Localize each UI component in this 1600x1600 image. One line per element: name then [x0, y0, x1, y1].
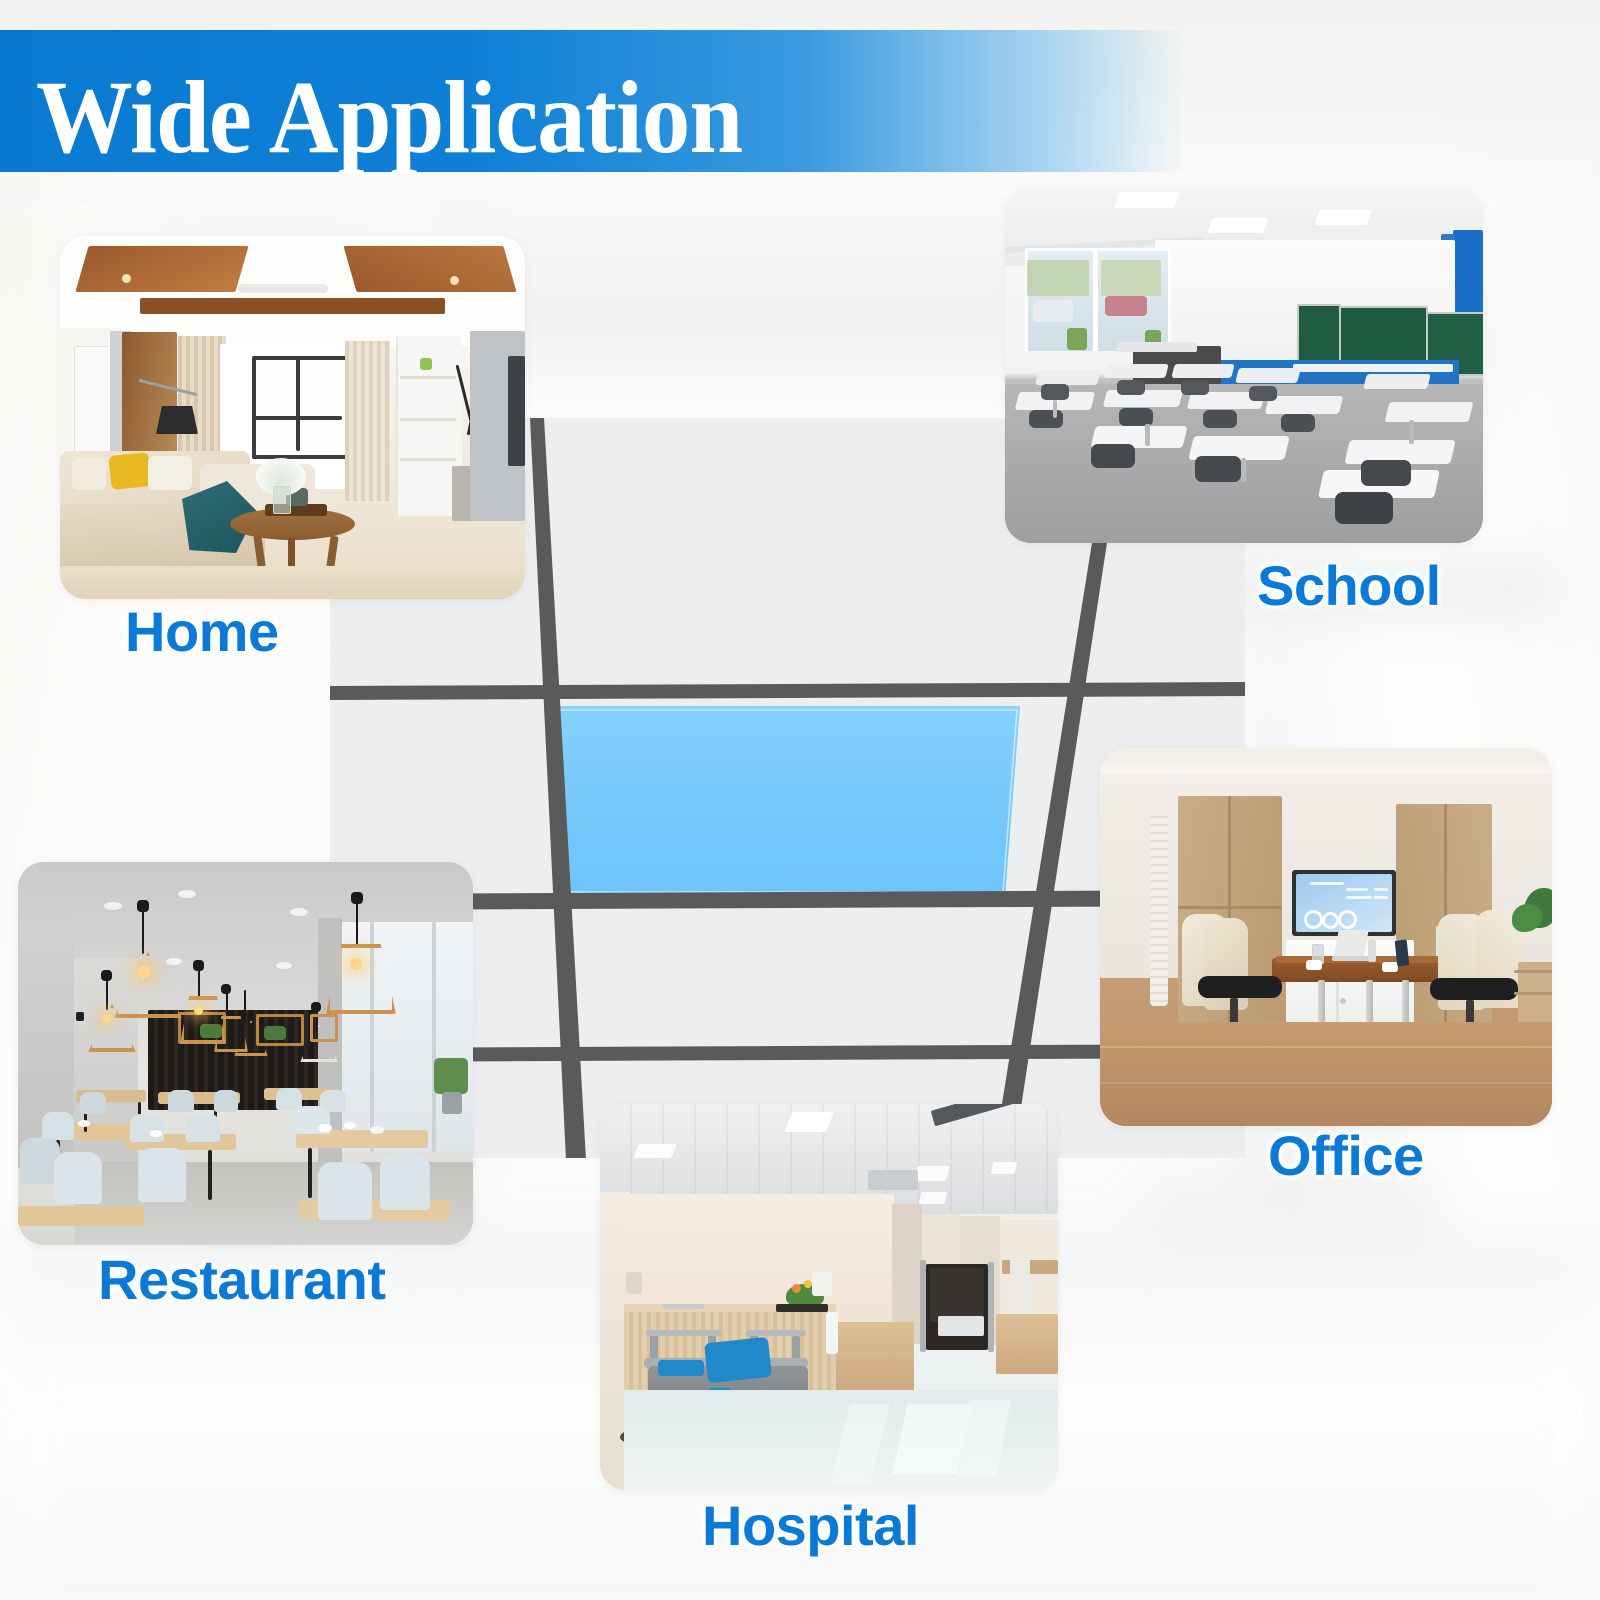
poster-canvas: Home	[0, 0, 1600, 1600]
label-office: Office	[1268, 1128, 1424, 1184]
photo-hospital-corridor	[600, 1104, 1058, 1490]
photo-office-meetingroom	[1100, 748, 1552, 1126]
photo-home-livingroom	[60, 236, 525, 599]
title-banner: Wide Application	[0, 30, 1185, 172]
photo-restaurant-dining	[18, 862, 473, 1245]
label-school: School	[1257, 558, 1441, 614]
label-hospital: Hospital	[702, 1498, 919, 1554]
page-title: Wide Application	[36, 66, 1059, 170]
photo-card-home[interactable]	[60, 236, 525, 599]
photo-card-office[interactable]	[1100, 748, 1552, 1126]
led-flat-panel	[544, 706, 1020, 896]
photo-card-restaurant[interactable]	[18, 862, 473, 1245]
photo-card-school[interactable]	[1005, 188, 1483, 543]
photo-card-hospital[interactable]	[600, 1104, 1058, 1490]
photo-school-classroom	[1005, 188, 1483, 543]
label-restaurant: Restaurant	[98, 1252, 386, 1308]
label-home: Home	[125, 604, 279, 660]
